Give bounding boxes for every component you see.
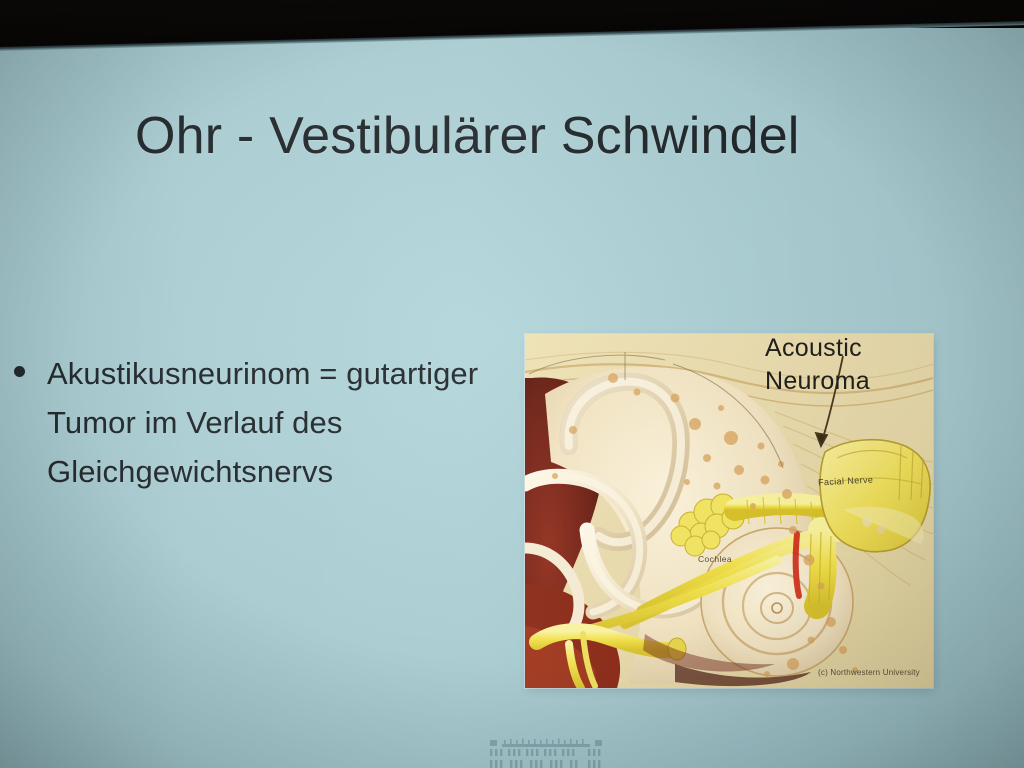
bullet-marker-icon bbox=[14, 366, 25, 377]
ear-anatomy-figure bbox=[525, 334, 933, 688]
projection-screen: Ohr - Vestibulärer Schwindel Akustikusne… bbox=[0, 0, 1024, 768]
building-logo-watermark bbox=[482, 736, 612, 768]
bullet-list: Akustikusneurinom = gutartiger Tumor im … bbox=[8, 350, 523, 497]
ear-anatomy-illustration bbox=[525, 334, 933, 688]
slide-title: Ohr - Vestibulärer Schwindel bbox=[135, 108, 915, 165]
bullet-item-text: Akustikusneurinom = gutartiger Tumor im … bbox=[47, 350, 523, 497]
